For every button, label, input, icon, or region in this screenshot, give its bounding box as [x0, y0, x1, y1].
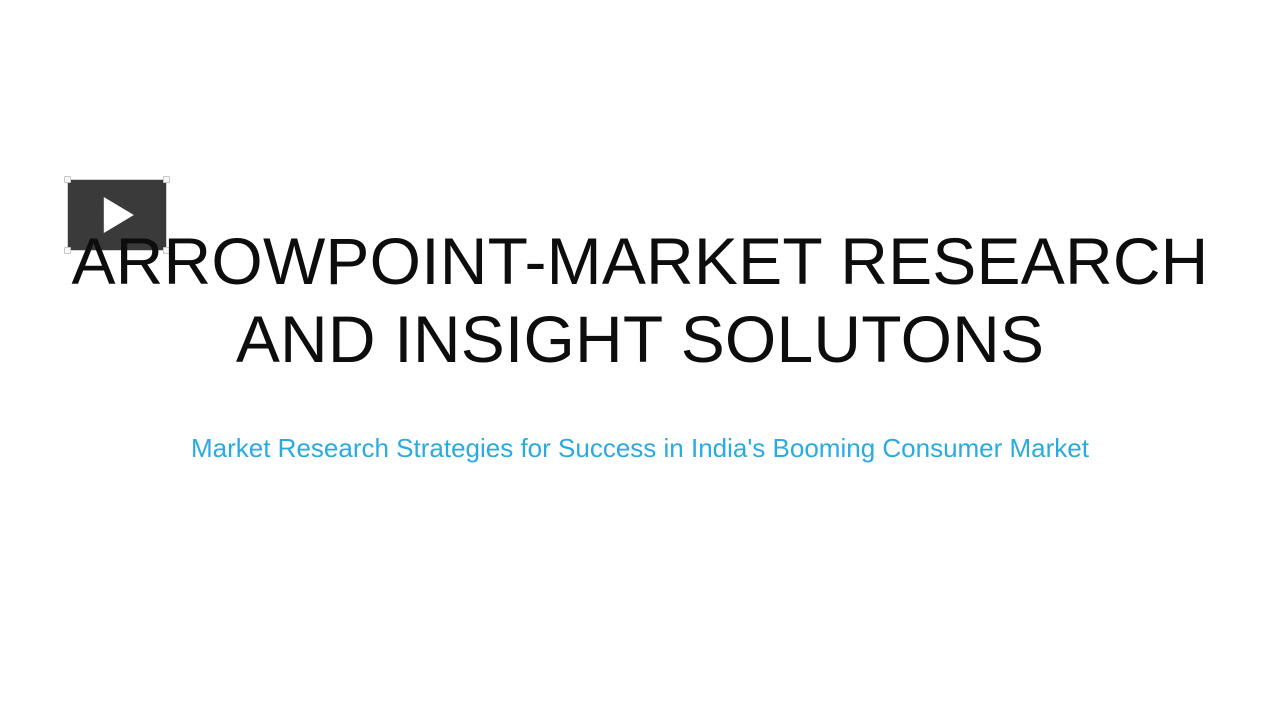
slide-subtitle-text: Market Research Strategies for Success i… — [64, 430, 1216, 466]
slide-title[interactable]: ARROWPOINT-MARKET RESEARCH AND INSIGHT S… — [64, 222, 1216, 378]
slide-subtitle[interactable]: Market Research Strategies for Success i… — [64, 430, 1216, 466]
slide-canvas: ARROWPOINT-MARKET RESEARCH AND INSIGHT S… — [0, 0, 1280, 720]
selection-handle-top-right[interactable] — [163, 176, 170, 183]
selection-handle-top-left[interactable] — [64, 176, 71, 183]
slide-title-line-1: ARROWPOINT-MARKET RESEARCH — [64, 222, 1216, 300]
slide-title-line-2: AND INSIGHT SOLUTONS — [64, 300, 1216, 378]
